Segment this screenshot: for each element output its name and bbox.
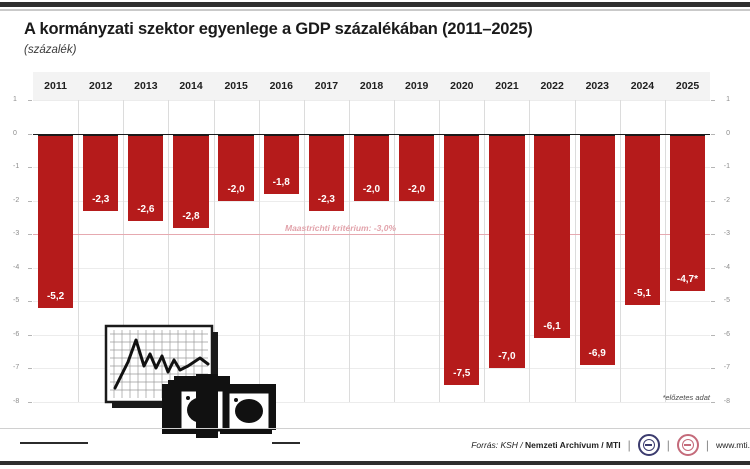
chart-footnote: *előzetes adat: [662, 393, 710, 402]
bar-value-label-2023: -6,9: [580, 348, 615, 359]
y-tick-mark-right--3: [711, 234, 715, 235]
y-axis-tick-right--2: -2: [13, 197, 33, 204]
bar-2021[interactable]: [489, 134, 524, 369]
bar-value-label-2018: -2,0: [354, 184, 389, 195]
illustration-divider-left: [20, 442, 88, 444]
footer-divider: [0, 428, 750, 429]
gridline-x-2020: [439, 100, 440, 402]
y-tick-mark-right--1: [711, 167, 715, 168]
year-header-2012: 2012: [78, 72, 123, 100]
y-tick-mark-right--6: [711, 335, 715, 336]
gridline-x-2021: [484, 100, 485, 402]
year-header-2024: 2024: [620, 72, 665, 100]
top-border-light: [0, 9, 750, 11]
year-header-2023: 2023: [575, 72, 620, 100]
archive-logo-icon: [638, 434, 660, 456]
gridline-x-2023: [575, 100, 576, 402]
bar-value-label-2024: -5,1: [625, 288, 660, 299]
year-header-2021: 2021: [484, 72, 529, 100]
mti-logo-icon: [677, 434, 699, 456]
y-tick-mark-right--2: [711, 201, 715, 202]
bar-value-label-2016: -1,8: [264, 177, 299, 188]
y-axis-tick-right--3: -3: [13, 230, 33, 237]
bar-2024[interactable]: [625, 134, 660, 305]
source-credit: Forrás: KSH / Nemzeti Archívum / MTI: [471, 440, 620, 450]
y-axis-tick-right--8: -8: [13, 398, 33, 405]
source-prefix: Forrás: KSH /: [471, 440, 522, 450]
bar-value-label-2011: -5,2: [38, 291, 73, 302]
year-header-2019: 2019: [394, 72, 439, 100]
gridline-x-2025: [665, 100, 666, 402]
year-header-2013: 2013: [123, 72, 168, 100]
year-header-2015: 2015: [214, 72, 259, 100]
bar-value-label-2014: -2,8: [173, 211, 208, 222]
footer-url: www.mti.: [716, 440, 750, 450]
gridline-x-2024: [620, 100, 621, 402]
page-subtitle: (százalék): [24, 44, 76, 56]
year-header-2017: 2017: [304, 72, 349, 100]
year-header-2022: 2022: [530, 72, 575, 100]
footer-separator-2: |: [667, 438, 670, 452]
y-axis-tick-right--1: -1: [13, 163, 33, 170]
bar-value-label-2019: -2,0: [399, 184, 434, 195]
bar-value-label-2021: -7,0: [489, 351, 524, 362]
bar-2025[interactable]: [670, 134, 705, 292]
gridline-x-2017: [304, 100, 305, 402]
footer-separator-3: |: [706, 438, 709, 452]
year-header-2014: 2014: [168, 72, 213, 100]
footer: Forrás: KSH / Nemzeti Archívum / MTI | |…: [455, 430, 750, 460]
bar-value-label-2020: -7,5: [444, 368, 479, 379]
bar-value-label-2012: -2,3: [83, 194, 118, 205]
bar-value-label-2022: -6,1: [534, 321, 569, 332]
bar-2020[interactable]: [444, 134, 479, 386]
gridline-y-1: [33, 100, 710, 101]
gridline-x-2012: [78, 100, 79, 402]
bar-value-label-2025: -4,7*: [670, 274, 705, 285]
y-axis-tick-right--5: -5: [13, 297, 33, 304]
y-tick-mark-right--7: [711, 368, 715, 369]
y-axis-tick-right-1: 1: [13, 96, 33, 103]
y-tick-mark-right--8: [711, 402, 715, 403]
y-tick-mark-right--4: [711, 268, 715, 269]
bar-value-label-2017: -2,3: [309, 194, 344, 205]
bar-2023[interactable]: [580, 134, 615, 366]
bar-value-label-2015: -2,0: [218, 184, 253, 195]
bar-value-label-2013: -2,6: [128, 204, 163, 215]
y-tick-mark-right-1: [711, 100, 715, 101]
year-header-2011: 2011: [33, 72, 78, 100]
gridline-x-2018: [349, 100, 350, 402]
gridline-x-2019: [394, 100, 395, 402]
bottom-border: [0, 461, 750, 465]
y-axis-tick-right--7: -7: [13, 364, 33, 371]
bar-2011[interactable]: [38, 134, 73, 308]
top-border-dark: [0, 2, 750, 7]
y-axis-tick-right--4: -4: [13, 264, 33, 271]
y-tick-mark-right--5: [711, 301, 715, 302]
bar-2022[interactable]: [534, 134, 569, 339]
maastricht-threshold-label: Maastrichti kritérium: -3,0%: [285, 223, 396, 233]
year-header-2016: 2016: [259, 72, 304, 100]
year-header-row: 2011201220132014201520162017201820192020…: [33, 72, 710, 101]
year-header-2018: 2018: [349, 72, 394, 100]
illustration-divider-right: [272, 442, 300, 444]
year-header-2025: 2025: [665, 72, 710, 100]
year-header-2020: 2020: [439, 72, 484, 100]
y-axis-tick-right--6: -6: [13, 331, 33, 338]
footer-separator-1: |: [628, 438, 631, 452]
source-bold: Nemzeti Archívum / MTI: [525, 440, 621, 450]
page-title: A kormányzati szektor egyenlege a GDP sz…: [24, 20, 533, 39]
gridline-x-2022: [529, 100, 530, 402]
y-axis-tick-right-0: 0: [13, 130, 33, 137]
y-tick-mark-right-0: [711, 134, 715, 135]
